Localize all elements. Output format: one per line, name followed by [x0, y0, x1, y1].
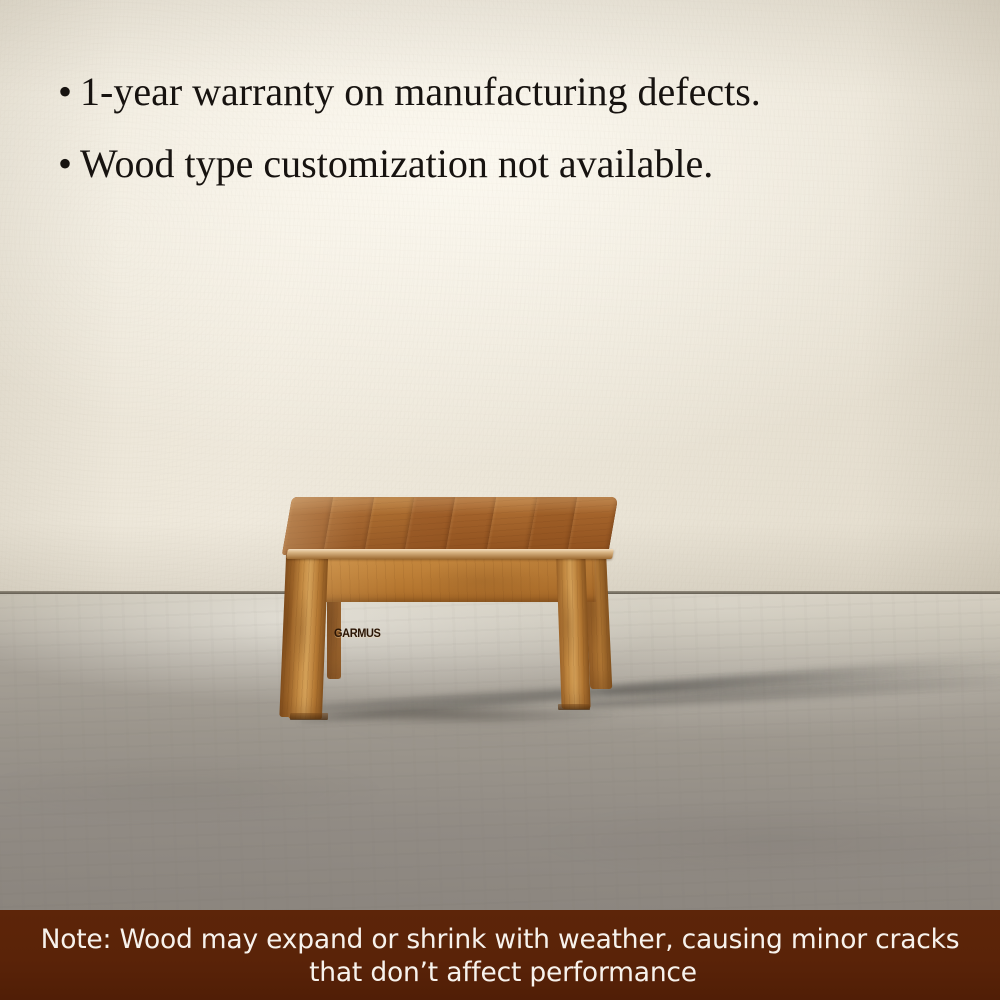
- product-info-image: GARMUS •1-year warranty on manufacturing…: [0, 0, 1000, 1000]
- feature-bullet-list: •1-year warranty on manufacturing defect…: [58, 56, 958, 200]
- table-top-highlight: [282, 497, 618, 555]
- table-leg-front-left: [288, 557, 328, 719]
- note-line-1: Note: Wood may expand or shrink with wea…: [0, 923, 1000, 956]
- bullet-item-0-label: 1-year warranty on manufacturing defects…: [80, 69, 761, 114]
- table-leg-front-right: [556, 557, 590, 709]
- note-banner: Note: Wood may expand or shrink with wea…: [0, 910, 1000, 1000]
- bullet-marker-icon: •: [58, 56, 80, 128]
- table-top-slats: [282, 497, 618, 555]
- brand-logo: GARMUS: [334, 628, 381, 641]
- note-text-block: Note: Wood may expand or shrink with wea…: [0, 923, 1000, 989]
- wood-grain: [296, 556, 596, 602]
- wood-grain: [556, 557, 590, 709]
- bullet-item-1: •Wood type customization not available.: [58, 128, 958, 200]
- table-apron: GARMUS: [296, 556, 596, 602]
- table-foot-left: [290, 713, 328, 720]
- table-top-edge: [286, 549, 614, 559]
- bullet-item-0: •1-year warranty on manufacturing defect…: [58, 56, 958, 128]
- wood-grain: [288, 557, 328, 719]
- table-foot-right: [558, 704, 590, 710]
- bullet-marker-icon: •: [58, 128, 80, 200]
- wooden-table: GARMUS: [283, 497, 625, 723]
- bullet-item-1-label: Wood type customization not available.: [80, 141, 713, 186]
- note-line-2: that don’t affect performance: [0, 956, 1000, 989]
